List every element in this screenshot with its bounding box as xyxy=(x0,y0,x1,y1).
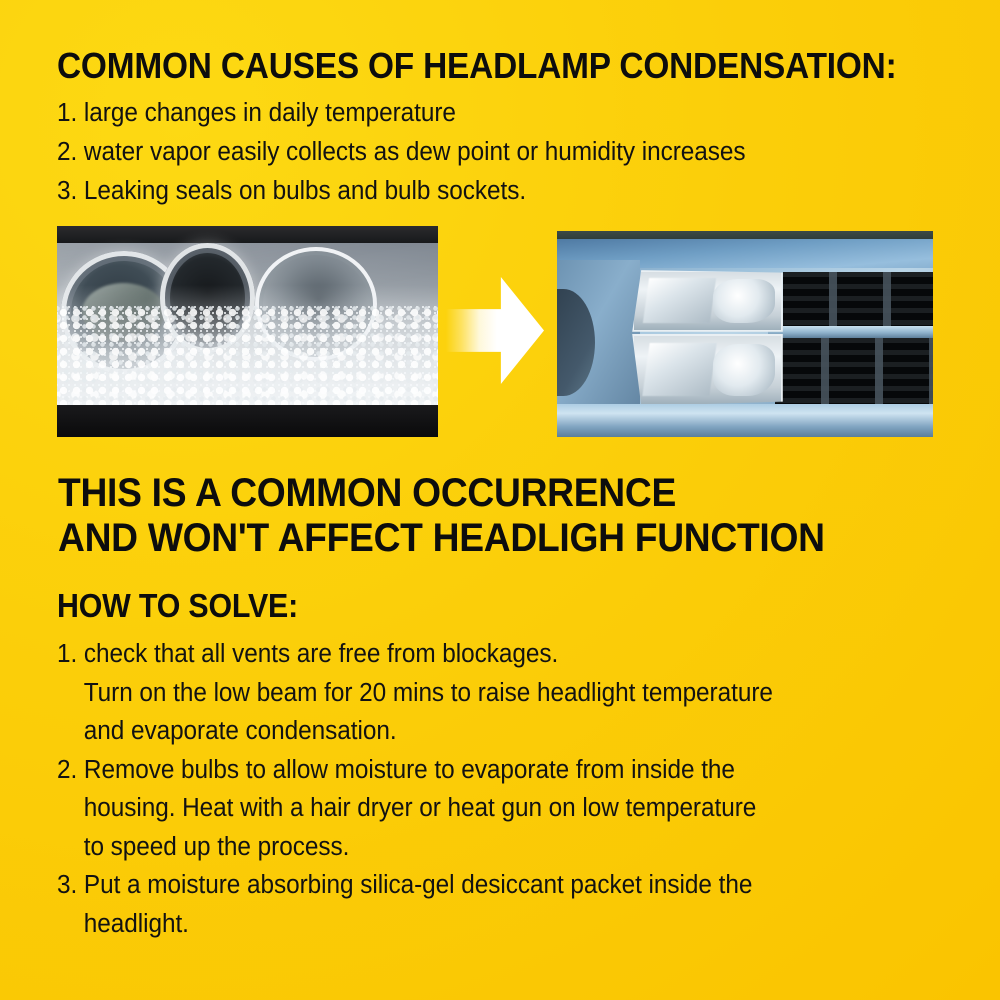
statement-line-1: THIS IS A COMMON OCCURRENCE xyxy=(58,471,904,516)
water-droplets xyxy=(57,306,438,407)
clear-headlight-upper xyxy=(632,270,783,332)
solve-line-8: headlight. xyxy=(57,905,945,944)
before-photo-foggy-headlight xyxy=(57,226,438,437)
causes-list: 1. large changes in daily temperature 2.… xyxy=(57,94,977,211)
headlamp-condensation-infographic: COMMON CAUSES OF HEADLAMP CONDENSATION: … xyxy=(0,0,1000,1000)
cause-item-2: 2. water vapor easily collects as dew po… xyxy=(57,133,936,172)
truck-grille-lower xyxy=(775,338,933,404)
solve-line-4: 2. Remove bulbs to allow moisture to eva… xyxy=(57,751,945,790)
right-arrow-icon xyxy=(446,277,544,384)
solve-line-1: 1. check that all vents are free from bl… xyxy=(57,635,945,674)
solve-line-5: housing. Heat with a hair dryer or heat … xyxy=(57,789,945,828)
solve-line-6: to speed up the process. xyxy=(57,828,945,867)
truck-grille-upper xyxy=(783,272,933,326)
solve-list: 1. check that all vents are free from bl… xyxy=(57,635,987,943)
solve-heading: HOW TO SOLVE: xyxy=(57,588,298,624)
cause-item-1: 1. large changes in daily temperature xyxy=(57,94,936,133)
truck-bumper xyxy=(557,404,933,437)
after-photo-clear-headlight xyxy=(557,231,933,437)
causes-heading: COMMON CAUSES OF HEADLAMP CONDENSATION: xyxy=(57,48,881,85)
cause-item-3: 3. Leaking seals on bulbs and bulb socke… xyxy=(57,172,936,211)
photo-dark-bottom-edge xyxy=(57,405,438,437)
clear-headlight-lower xyxy=(632,334,783,406)
solve-line-7: 3. Put a moisture absorbing silica-gel d… xyxy=(57,866,945,905)
solve-line-2: Turn on the low beam for 20 mins to rais… xyxy=(57,674,945,713)
truck-chrome-bar xyxy=(768,326,933,338)
statement-line-2: AND WON'T AFFECT HEADLIGH FUNCTION xyxy=(58,516,904,561)
statement-block: THIS IS A COMMON OCCURRENCE AND WON'T AF… xyxy=(58,471,904,561)
solve-line-3: and evaporate condensation. xyxy=(57,712,945,751)
